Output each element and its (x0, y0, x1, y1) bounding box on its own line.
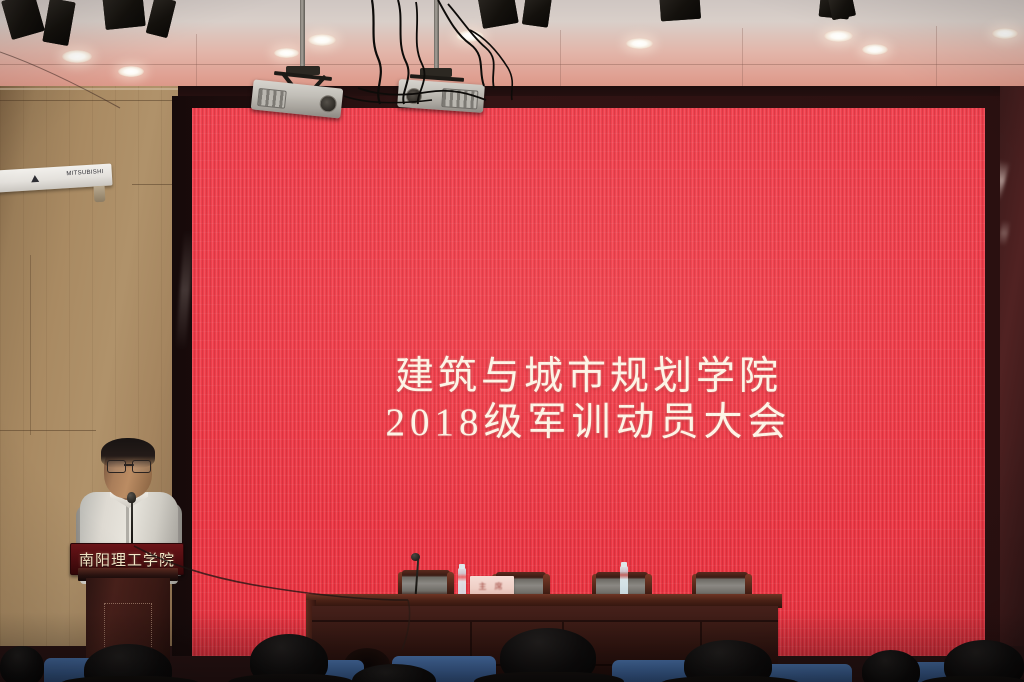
floor-cable (0, 0, 1024, 682)
audience-shoulders (60, 676, 200, 682)
audience-shoulders (660, 676, 800, 682)
audience-shoulders (474, 672, 624, 682)
audience-shoulders (920, 676, 1024, 682)
audience-head (0, 646, 44, 682)
conference-hall-photo: 建筑与城市规划学院 2018级军训动员大会 MITSUBISHI (0, 0, 1024, 682)
audience-shoulders (228, 674, 354, 682)
